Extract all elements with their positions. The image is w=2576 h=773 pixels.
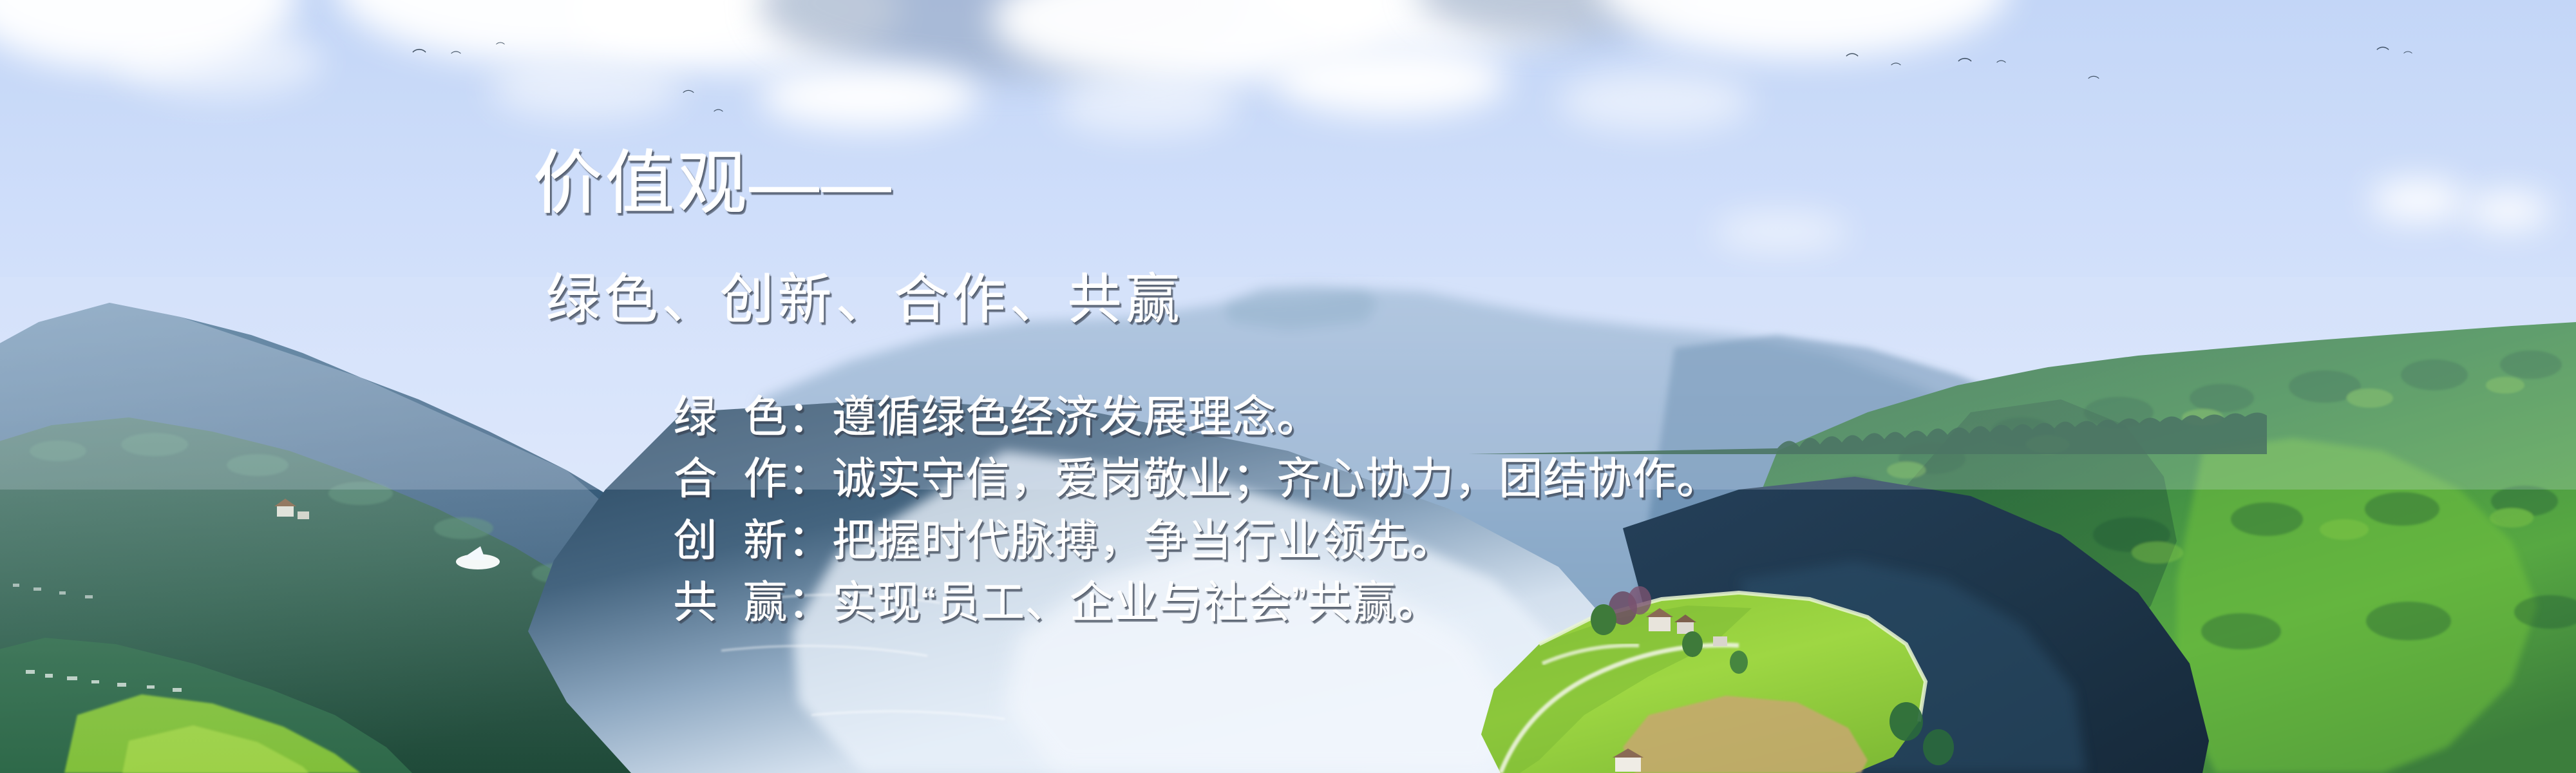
bird-icon: ︵: [2376, 39, 2389, 52]
bird-icon: ︵: [412, 40, 426, 54]
bird-icon: ︵: [1846, 45, 1859, 58]
bird-icon: ︵: [2088, 68, 2099, 80]
bird-icon: ︵: [451, 45, 461, 55]
bird-icon: ︵: [714, 103, 723, 113]
bird-icon: ︵: [1891, 57, 1901, 67]
bird-icon: ︵: [683, 82, 694, 94]
bird-icon: ︵: [1996, 54, 2006, 64]
bird-icon: ︵: [1958, 49, 1972, 63]
bird-icon: ︵: [496, 36, 505, 45]
landscape-scene: [0, 0, 2576, 773]
landscape-banner: ︵ ︵ ︵ ︵ ︵ ︵ ︵ ︵ ︵ ︵ ︵ ︵ 价值观—— 绿色、创新、合作、共…: [0, 0, 2576, 773]
bird-icon: ︵: [2403, 45, 2412, 54]
